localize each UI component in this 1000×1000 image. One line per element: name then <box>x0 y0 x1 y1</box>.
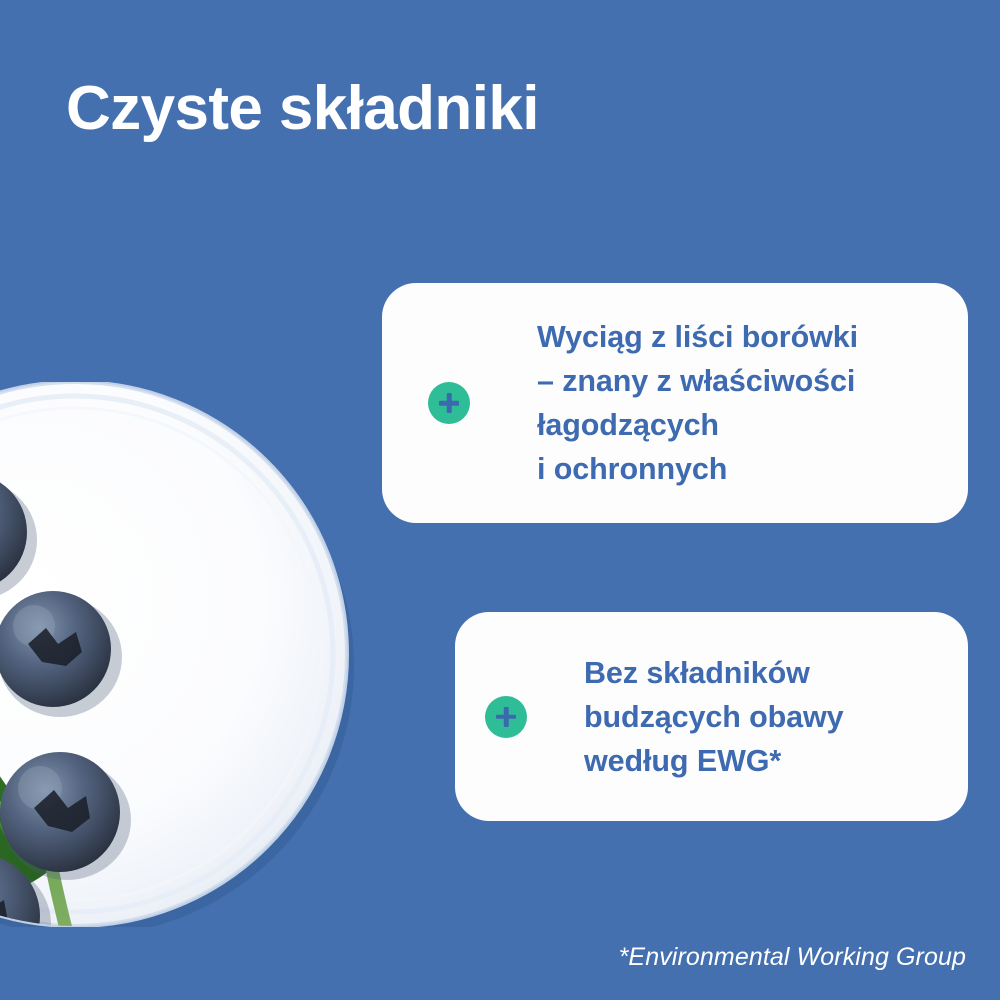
page-title: Czyste składniki <box>66 78 539 140</box>
feature-card-text: Wyciąg z liści borówki – znany z właściw… <box>537 315 858 491</box>
blueberry-petri-dish-photo <box>0 382 360 927</box>
poster-canvas: Czyste składniki <box>0 0 1000 1000</box>
feature-card-ewg: Bez składników budzących obawy według EW… <box>455 612 968 821</box>
plus-icon <box>485 696 527 738</box>
plus-icon <box>428 382 470 424</box>
feature-card-text: Bez składników budzących obawy według EW… <box>584 651 844 783</box>
feature-card-ingredient: Wyciąg z liści borówki – znany z właściw… <box>382 283 968 523</box>
petri-dish-illustration <box>0 382 360 927</box>
footnote: *Environmental Working Group <box>619 943 966 972</box>
